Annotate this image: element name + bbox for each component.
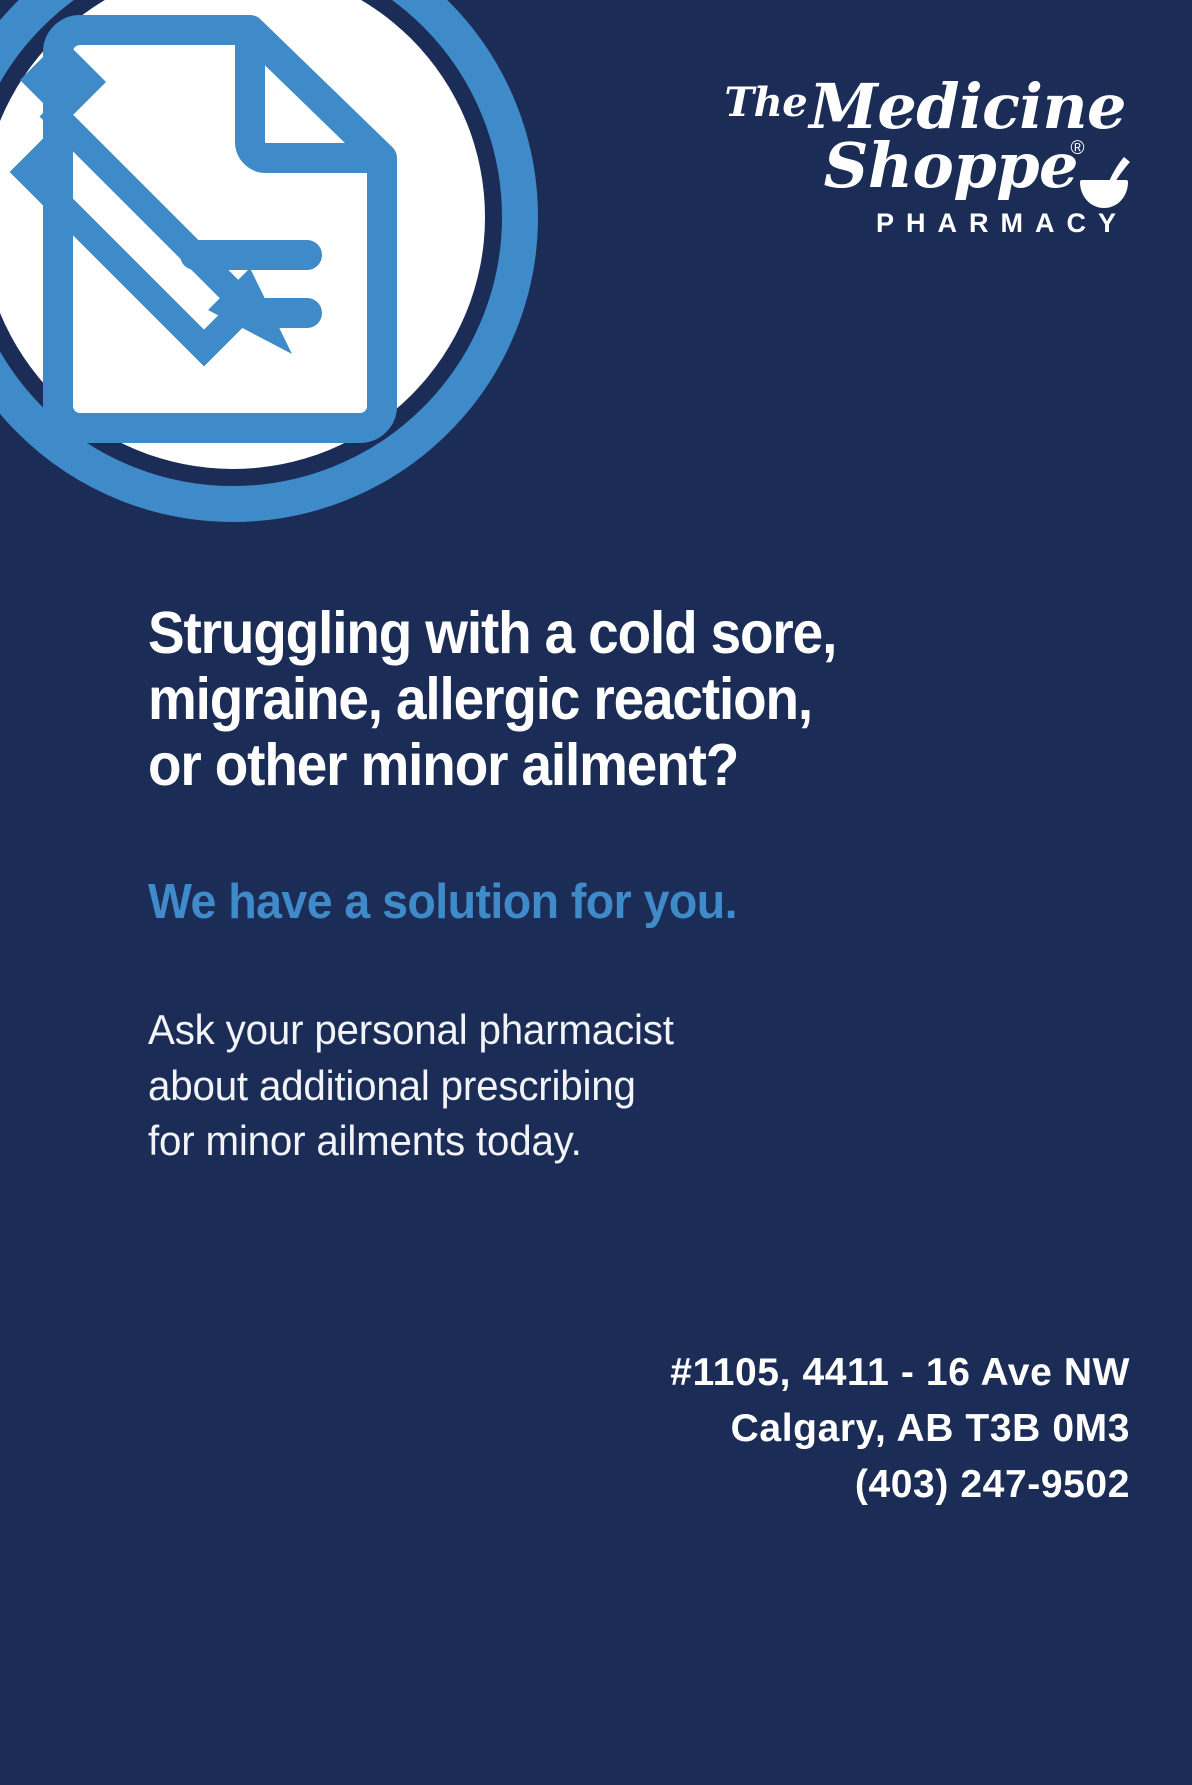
logo-shoppe: Shoppe — [660, 137, 1130, 194]
logo-wordmark: TheMedicine Shoppe ® — [660, 78, 1130, 194]
brand-logo: TheMedicine Shoppe ® PHARMACY — [660, 78, 1130, 239]
contact-block: #1105, 4411 - 16 Ave NW Calgary, AB T3B … — [670, 1345, 1130, 1513]
poster-content: Struggling with a cold sore, migraine, a… — [148, 600, 1078, 1169]
address-city: Calgary, AB T3B 0M3 — [670, 1401, 1130, 1457]
prescription-document-pencil-icon — [0, 0, 538, 522]
registered-trademark-icon: ® — [1071, 140, 1085, 157]
body-copy: Ask your personal pharmacist about addit… — [148, 1002, 1041, 1168]
logo-pharmacy-label: PHARMACY — [660, 208, 1130, 239]
headline: Struggling with a cold sore, migraine, a… — [148, 600, 1013, 798]
body-line-1: Ask your personal pharmacist — [148, 1002, 1041, 1057]
logo-the: The — [724, 79, 809, 126]
mortar-and-pestle-icon — [1078, 156, 1130, 214]
headline-line-1: Struggling with a cold sore, — [148, 600, 1013, 666]
headline-line-3: or other minor ailment? — [148, 732, 1013, 798]
address-street: #1105, 4411 - 16 Ave NW — [670, 1345, 1130, 1401]
logo-line-medicine: TheMedicine — [660, 78, 1130, 135]
poster-canvas: TheMedicine Shoppe ® PHARMACY Struggling… — [0, 0, 1192, 1785]
body-line-2: about additional prescribing — [148, 1058, 1041, 1113]
phone-number[interactable]: (403) 247-9502 — [670, 1457, 1130, 1513]
body-line-3: for minor ailments today. — [148, 1113, 1041, 1168]
headline-line-2: migraine, allergic reaction, — [148, 666, 1013, 732]
subheadline: We have a solution for you. — [148, 874, 1032, 930]
